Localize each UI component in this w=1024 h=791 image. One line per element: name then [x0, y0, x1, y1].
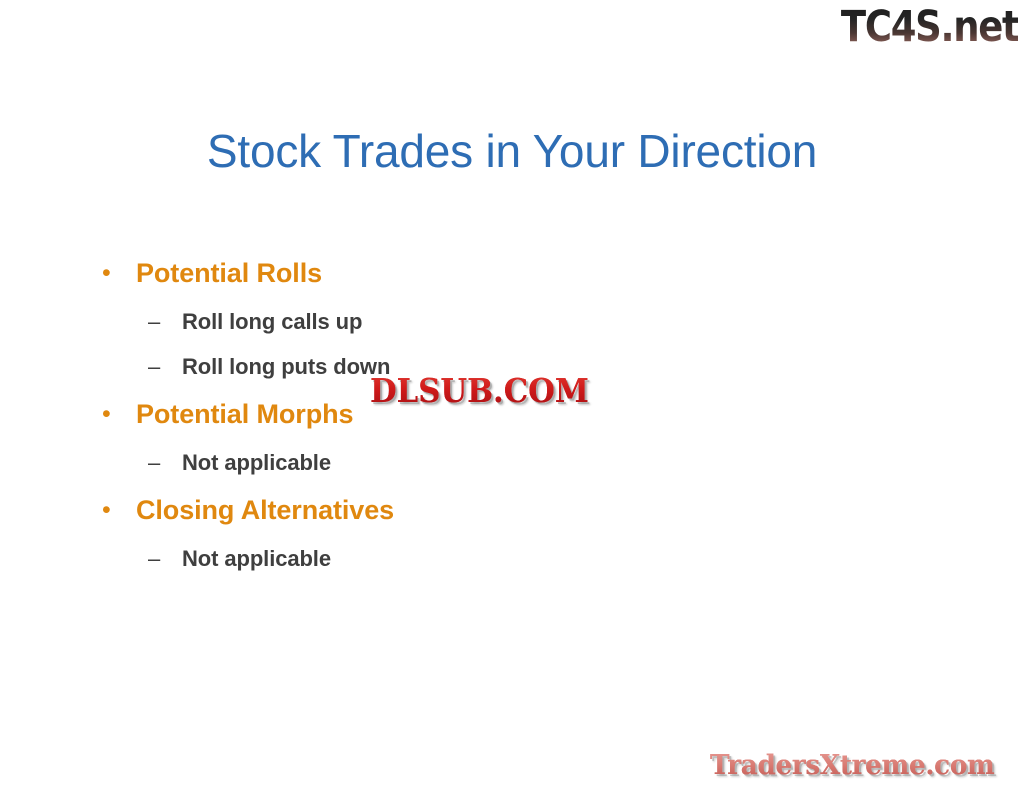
list-item: • Potential Rolls	[96, 253, 796, 304]
dlsub-watermark: DLSUB.COM	[370, 371, 589, 411]
list-item-label: Roll long calls up	[182, 304, 362, 340]
bullet-dot-icon: •	[96, 253, 136, 293]
list-item-label: Not applicable	[182, 445, 331, 481]
list-item-label: Closing Alternatives	[136, 490, 394, 530]
bullet-dash-icon: –	[96, 349, 182, 385]
list-item-label: Roll long puts down	[182, 349, 390, 385]
bullet-dash-icon: –	[96, 304, 182, 340]
list-item-label: Potential Rolls	[136, 253, 322, 293]
bullet-list: • Potential Rolls – Roll long calls up –…	[96, 253, 796, 586]
list-item: – Not applicable	[96, 445, 796, 490]
page-title: Stock Trades in Your Direction	[0, 124, 1024, 178]
bullet-dot-icon: •	[96, 394, 136, 434]
bullet-dot-icon: •	[96, 490, 136, 530]
list-item-label: Potential Morphs	[136, 394, 353, 434]
slide-canvas: TC4S.net Stock Trades in Your Direction …	[0, 0, 1024, 791]
tc4s-brand-logo: TC4S.net	[840, 2, 1018, 52]
list-item-label: Not applicable	[182, 541, 331, 577]
list-item: • Closing Alternatives	[96, 490, 796, 541]
list-item: – Not applicable	[96, 541, 796, 586]
bullet-dash-icon: –	[96, 445, 182, 481]
bullet-dash-icon: –	[96, 541, 182, 577]
tradersxtreme-watermark: TradersXtreme.com	[710, 749, 994, 783]
list-item: – Roll long calls up	[96, 304, 796, 349]
